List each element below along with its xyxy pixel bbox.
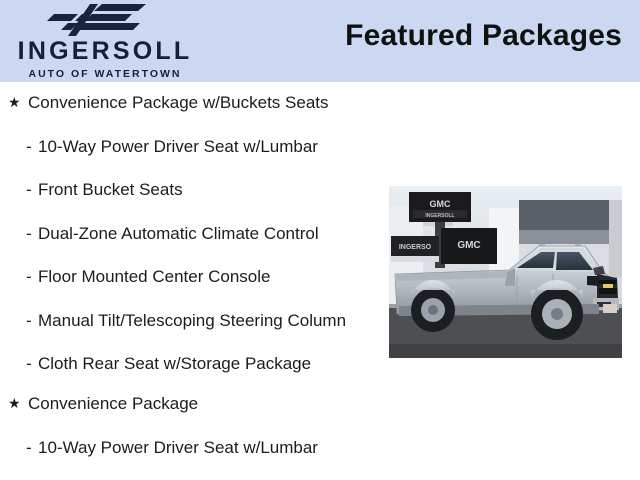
feature-text: Floor Mounted Center Console [26, 266, 366, 288]
dash-marker: - [26, 310, 32, 332]
vehicle-photo: GMC INGERSOLL GMC INGERSO [389, 186, 622, 358]
vehicle-photo-image: GMC INGERSOLL GMC INGERSO [389, 186, 622, 358]
list-item: - Dual-Zone Automatic Climate Control [0, 223, 366, 245]
dash-marker: - [26, 179, 32, 201]
list-item: - 10-Way Power Driver Seat w/Lumbar [0, 136, 366, 158]
featured-packages-list: ★ Convenience Package w/Buckets Seats - … [0, 82, 380, 458]
list-item: - Front Bucket Seats [0, 179, 366, 201]
dealer-brand-block: INGERSOLL AUTO OF WATERTOWN [0, 2, 210, 82]
brand-name: INGERSOLL [0, 39, 210, 64]
package-title: Convenience Package [28, 393, 358, 415]
brand-tagline: AUTO OF WATERTOWN [0, 69, 210, 80]
dash-marker: - [26, 136, 32, 158]
dash-marker: - [26, 223, 32, 245]
feature-text: Manual Tilt/Telescoping Steering Column [26, 310, 366, 332]
svg-text:GMC: GMC [430, 199, 451, 209]
dash-marker: - [26, 266, 32, 288]
svg-text:INGERSO: INGERSO [399, 244, 432, 251]
page-title: Featured Packages [345, 19, 622, 53]
package-heading: ★ Convenience Package w/Buckets Seats [0, 92, 358, 114]
feature-text: 10-Way Power Driver Seat w/Lumbar [26, 437, 366, 459]
dash-marker: - [26, 353, 32, 375]
ingersoll-wings-logo-icon [46, 2, 164, 40]
svg-text:GMC: GMC [457, 240, 480, 251]
list-item: - Cloth Rear Seat w/Storage Package [0, 353, 366, 375]
dash-marker: - [26, 437, 32, 459]
list-item: - Manual Tilt/Telescoping Steering Colum… [0, 310, 366, 332]
list-item: - Floor Mounted Center Console [0, 266, 366, 288]
list-item: - 10-Way Power Driver Seat w/Lumbar [0, 437, 366, 459]
main-content: ★ Convenience Package w/Buckets Seats - … [0, 82, 640, 480]
star-bullet-icon: ★ [8, 92, 21, 113]
feature-text: Front Bucket Seats [26, 179, 366, 201]
package-heading: ★ Convenience Package [0, 393, 358, 415]
feature-text: Dual-Zone Automatic Climate Control [26, 223, 366, 245]
feature-text: Cloth Rear Seat w/Storage Package [26, 353, 366, 375]
star-bullet-icon: ★ [8, 393, 21, 414]
page-header: INGERSOLL AUTO OF WATERTOWN Featured Pac… [0, 0, 640, 82]
package-title: Convenience Package w/Buckets Seats [28, 92, 358, 114]
feature-text: 10-Way Power Driver Seat w/Lumbar [26, 136, 366, 158]
svg-text:INGERSOLL: INGERSOLL [425, 213, 454, 219]
